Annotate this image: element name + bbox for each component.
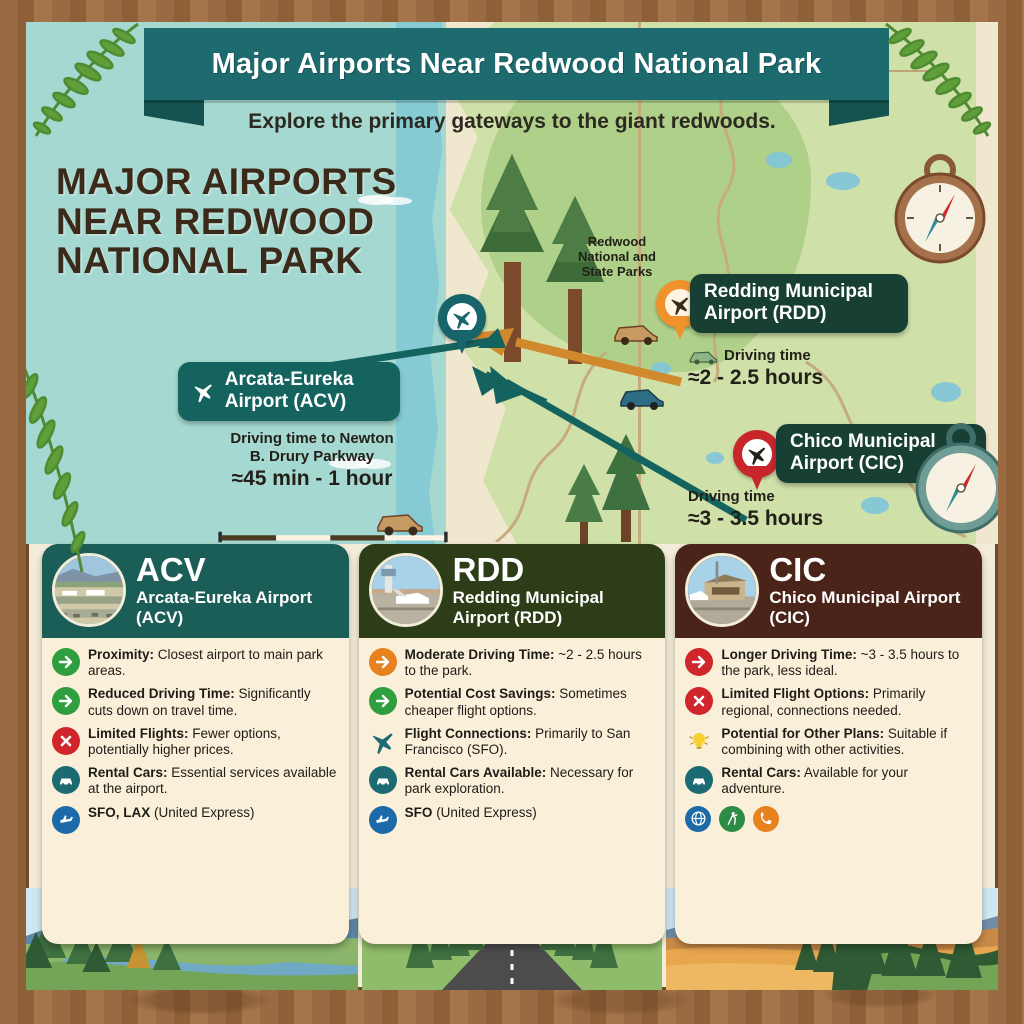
bullet-item: Limited Flights: Fewer options, potentia…: [52, 726, 339, 758]
bullet-text: Moderate Driving Time: ~2 - 2.5 hours to…: [405, 647, 656, 679]
card-cic[interactable]: CIC Chico Municipal Airport (CIC) Longer…: [675, 544, 982, 944]
drive-time-cic-line1: Driving time: [688, 488, 823, 506]
lightbulb-icon: [685, 727, 713, 755]
compass-icon: [881, 140, 998, 268]
card-cic-photo: [685, 553, 759, 627]
card-acv-header: ACV Arcata-Eureka Airport (ACV): [42, 544, 349, 638]
card-cic-icon-row: [685, 805, 972, 832]
callout-acv-label: Arcata-Eureka Airport (ACV): [225, 369, 386, 413]
banner-subtitle: Explore the primary gateways to the gian…: [26, 110, 998, 134]
bullet-item: Moderate Driving Time: ~2 - 2.5 hours to…: [369, 647, 656, 679]
car-icon: [688, 347, 718, 365]
wooden-frame: Redwood National and State Parks: [0, 0, 1024, 1024]
drive-time-rdd: Driving time ≈2 - 2.5 hours: [688, 347, 823, 390]
card-rdd-body: Moderate Driving Time: ~2 - 2.5 hours to…: [359, 638, 666, 944]
card-rdd[interactable]: RDD Redding Municipal Airport (RDD) Mode…: [359, 544, 666, 944]
plane-icon: [192, 376, 215, 406]
arrow-right-icon: [685, 648, 713, 676]
bullet-text: Potential for Other Plans: Suitable if c…: [721, 726, 972, 758]
bullet-text: SFO (United Express): [405, 805, 537, 821]
bullet-text: Rental Cars: Available for your adventur…: [721, 765, 972, 797]
plane-icon: [746, 443, 768, 465]
drive-time-acv-line1: Driving time to Newton: [202, 430, 422, 448]
drive-time-acv-value: ≈45 min - 1 hour: [202, 466, 422, 491]
bullet-item: Rental Cars Available: Necessary for par…: [369, 765, 656, 797]
arrow-right-icon: [52, 687, 80, 715]
plane-icon: [369, 727, 397, 755]
plane-takeoff-icon: [369, 806, 397, 834]
pin-tip: [670, 316, 690, 340]
card-acv-title: ACV Arcata-Eureka Airport (ACV): [136, 553, 339, 626]
globe-icon[interactable]: [685, 806, 711, 832]
card-rdd-name: Redding Municipal Airport (RDD): [453, 588, 656, 626]
car-icon: [52, 766, 80, 794]
bullet-text: Rental Cars Available: Necessary for par…: [405, 765, 656, 797]
drive-time-rdd-line1: Driving time: [724, 347, 811, 365]
card-acv-body: Proximity: Closest airport to main park …: [42, 638, 349, 944]
bullet-item: Rental Cars: Essential services availabl…: [52, 765, 339, 797]
page-title: MAJOR AIRPORTS NEAR REDWOOD NATIONAL PAR…: [56, 162, 416, 281]
phone-icon[interactable]: [753, 806, 779, 832]
arrow-right-icon: [369, 687, 397, 715]
card-cic-name: Chico Municipal Airport (CIC): [769, 588, 972, 626]
car-icon: [369, 766, 397, 794]
bullet-item: Reduced Driving Time: Significantly cuts…: [52, 686, 339, 718]
pin-tip: [452, 330, 472, 354]
hiker-icon[interactable]: [719, 806, 745, 832]
drive-time-rdd-value: ≈2 - 2.5 hours: [688, 365, 823, 390]
bullet-item: Flight Connections: Primarily to San Fra…: [369, 726, 656, 758]
pin-disc: [742, 439, 772, 469]
bullet-text: Limited Flight Options: Primarily region…: [721, 686, 972, 718]
bullet-item: Potential for Other Plans: Suitable if c…: [685, 726, 972, 758]
card-acv-name: Arcata-Eureka Airport (ACV): [136, 588, 339, 626]
bullet-text: Flight Connections: Primarily to San Fra…: [405, 726, 656, 758]
drive-time-acv: Driving time to Newton B. Drury Parkway …: [202, 430, 422, 491]
bullet-text: Longer Driving Time: ~3 - 3.5 hours to t…: [721, 647, 972, 679]
car-icon: [685, 766, 713, 794]
car-icon: [618, 382, 666, 410]
map-park-label: Redwood National and State Parks: [574, 234, 660, 279]
bullet-item: Potential Cost Savings: Sometimes cheape…: [369, 686, 656, 718]
card-cic-header: CIC Chico Municipal Airport (CIC): [675, 544, 982, 638]
pin-tip: [747, 466, 767, 490]
cross-icon: [685, 687, 713, 715]
map-pin-acv[interactable]: [438, 294, 486, 356]
card-rdd-photo: [369, 553, 443, 627]
callout-acv[interactable]: Arcata-Eureka Airport (ACV): [178, 362, 400, 421]
bullet-item: SFO (United Express): [369, 805, 656, 834]
bullet-text: Potential Cost Savings: Sometimes cheape…: [405, 686, 656, 718]
bullet-text: Proximity: Closest airport to main park …: [88, 647, 339, 679]
card-cic-title: CIC Chico Municipal Airport (CIC): [769, 553, 972, 626]
card-rdd-header: RDD Redding Municipal Airport (RDD): [359, 544, 666, 638]
cross-icon: [52, 727, 80, 755]
title-banner: Major Airports Near Redwood National Par…: [144, 28, 889, 100]
bullet-text: SFO, LAX (United Express): [88, 805, 255, 821]
route-arrow-short: [446, 352, 556, 412]
bullet-text: Reduced Driving Time: Significantly cuts…: [88, 686, 339, 718]
infographic-canvas: Redwood National and State Parks: [26, 22, 998, 990]
banner-title: Major Airports Near Redwood National Par…: [212, 48, 822, 81]
card-rdd-code: RDD: [453, 553, 656, 586]
bullet-item: Limited Flight Options: Primarily region…: [685, 686, 972, 718]
bullet-text: Rental Cars: Essential services availabl…: [88, 765, 339, 797]
car-icon: [611, 317, 661, 345]
plane-takeoff-icon: [52, 806, 80, 834]
map-lake: [826, 172, 860, 190]
bullet-item: SFO, LAX (United Express): [52, 805, 339, 834]
card-acv-photo: [52, 553, 126, 627]
arrow-right-icon: [369, 648, 397, 676]
card-cic-code: CIC: [769, 553, 972, 586]
map-pin-cic[interactable]: [733, 430, 781, 492]
card-acv-code: ACV: [136, 553, 339, 586]
car-icon: [374, 506, 426, 536]
arrow-right-icon: [52, 648, 80, 676]
drive-time-acv-line2: B. Drury Parkway: [202, 448, 422, 466]
plane-icon: [669, 293, 691, 315]
bullet-item: Rental Cars: Available for your adventur…: [685, 765, 972, 797]
compass-icon: [906, 412, 998, 542]
bullet-text: Limited Flights: Fewer options, potentia…: [88, 726, 339, 758]
callout-rdd-label: Redding Municipal Airport (RDD): [704, 281, 873, 324]
bullet-item: Longer Driving Time: ~3 - 3.5 hours to t…: [685, 647, 972, 679]
card-rdd-title: RDD Redding Municipal Airport (RDD): [453, 553, 656, 626]
plane-icon: [451, 307, 473, 329]
card-acv[interactable]: ACV Arcata-Eureka Airport (ACV) Proximit…: [42, 544, 349, 944]
airport-cards: ACV Arcata-Eureka Airport (ACV) Proximit…: [26, 544, 998, 944]
bullet-item: Proximity: Closest airport to main park …: [52, 647, 339, 679]
drive-time-cic-value: ≈3 - 3.5 hours: [688, 506, 823, 531]
card-cic-body: Longer Driving Time: ~3 - 3.5 hours to t…: [675, 638, 982, 944]
callout-rdd[interactable]: Redding Municipal Airport (RDD): [690, 274, 908, 333]
drive-time-cic: Driving time ≈3 - 3.5 hours: [688, 488, 823, 531]
pin-disc: [447, 303, 477, 333]
